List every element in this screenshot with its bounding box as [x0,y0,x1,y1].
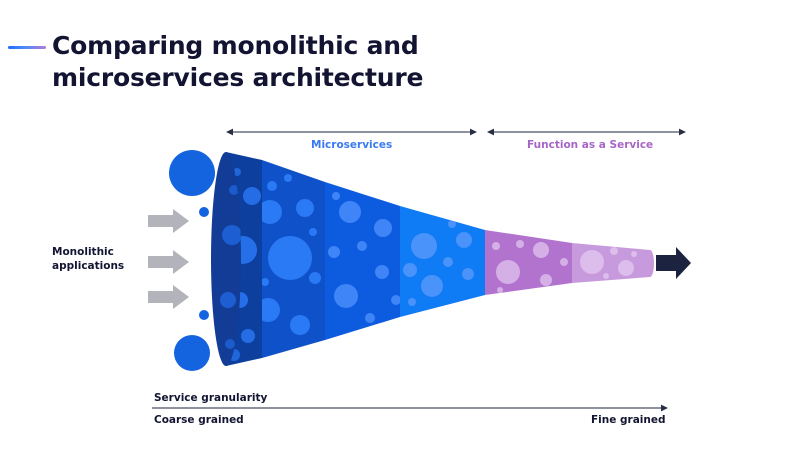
granularity-caption: Service granularity [154,392,267,404]
inflow-arrow-3 [148,285,189,309]
top-axis-label-faas: Function as a Service [527,139,653,151]
segment-bubbles [328,192,401,323]
monolithic-label-line-1: Monolithic [52,246,114,258]
output-arrow [656,247,691,279]
funnel-segment-faas-1 [485,230,572,295]
inflow-arrow-1 [148,209,189,233]
slide-root: Comparing monolithic and microservices a… [0,0,800,454]
granularity-right-label: Fine grained [591,414,666,426]
funnel-body [211,152,654,366]
monolithic-applications-label: Monolithic applications [52,245,162,273]
page-title-line-1: Comparing monolithic and [52,31,419,60]
granularity-left-label: Coarse grained [154,414,244,426]
funnel-segment-monolith-core [226,152,262,366]
top-axis-label-microservices: Microservices [311,139,392,151]
mouth-bubbles [220,185,242,349]
funnel-segment-microservices-1 [256,160,325,358]
accent-rule [8,46,46,49]
segment-bubbles [256,174,321,335]
funnel-tip-cap [646,250,654,277]
funnel-segment-faas-2 [572,243,650,283]
funnel-mouth [211,152,242,366]
page-title-line-2: microservices architecture [52,62,492,94]
segment-bubbles [492,240,568,293]
bottom-granularity-axis [152,405,668,412]
top-axis-microservices [226,129,477,136]
segment-bubbles [228,168,261,361]
segment-bubbles [403,220,474,306]
funnel-segment-microservices-3 [400,206,485,317]
monolithic-label-line-2: applications [52,260,124,272]
funnel-segment-microservices-2 [325,182,401,340]
segment-bubbles [580,247,637,279]
monolith-circles [169,150,215,371]
top-axis-faas [487,129,686,136]
page-title: Comparing monolithic and microservices a… [52,30,492,94]
